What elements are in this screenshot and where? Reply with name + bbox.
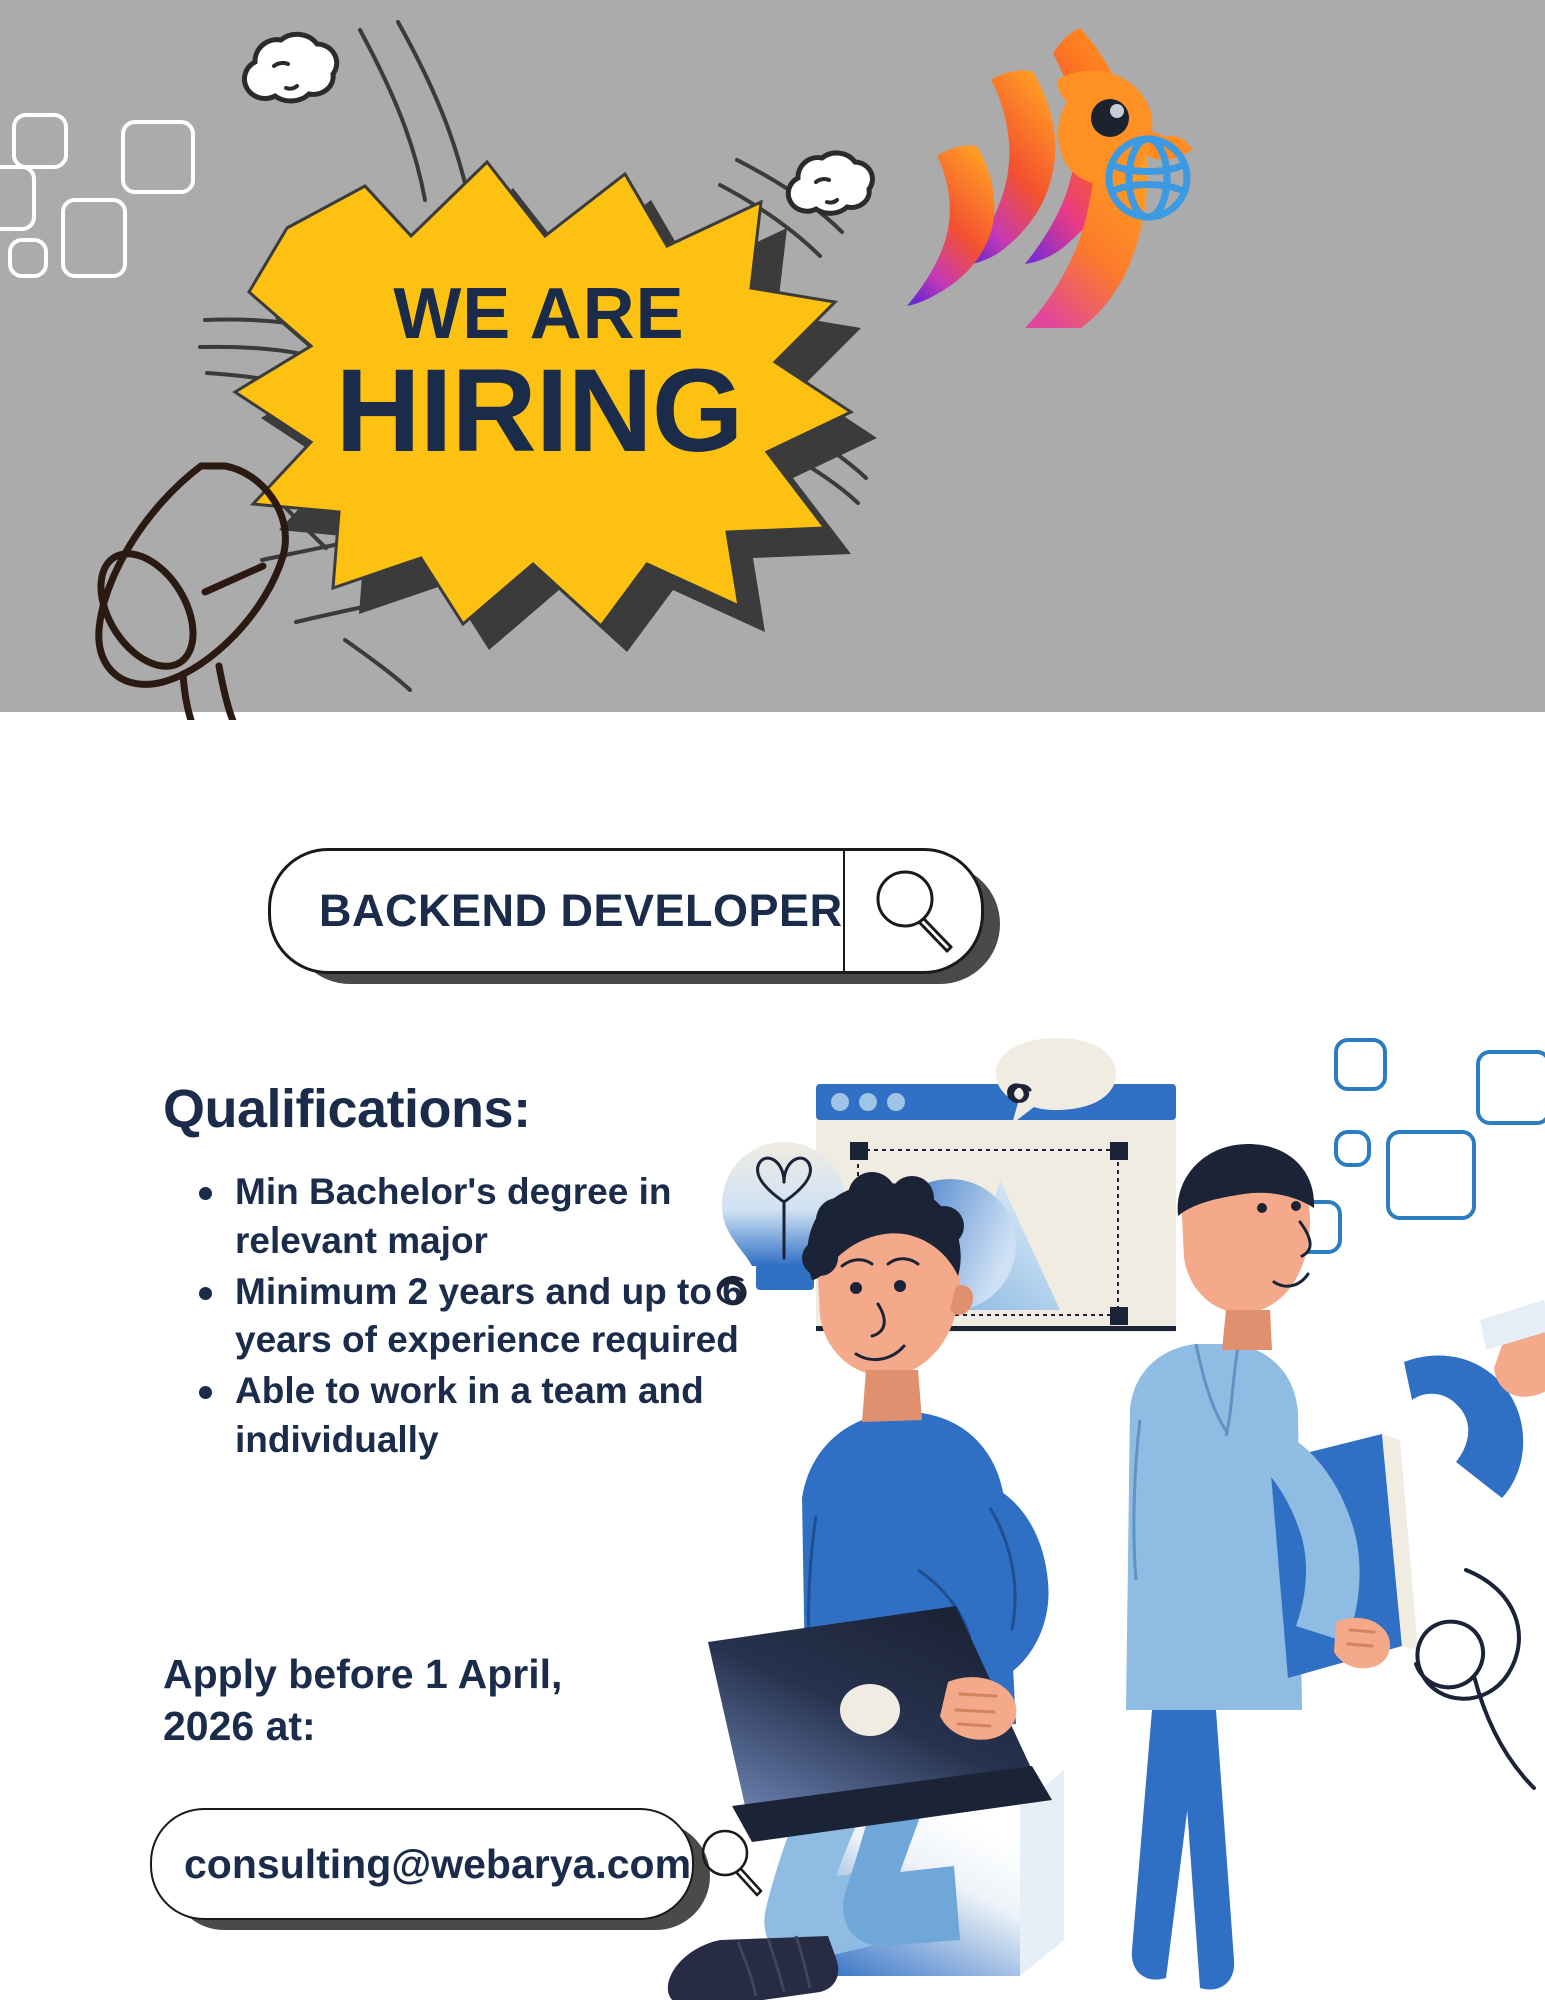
decorative-square-white	[121, 120, 195, 194]
decorative-swirl	[1416, 1570, 1534, 1788]
email-bar-body[interactable]: consulting@webarya.com	[150, 1808, 694, 1920]
team-illustration	[660, 1010, 1545, 2000]
cloud-icon	[222, 20, 352, 135]
decorative-square-white	[0, 165, 36, 231]
decorative-square-white	[61, 198, 127, 278]
job-title-search-bar[interactable]: BACKEND DEVELOPER	[268, 848, 978, 968]
email-value: consulting@webarya.com	[184, 1841, 691, 1888]
decorative-square-white	[8, 238, 48, 278]
search-button[interactable]	[845, 851, 981, 971]
hiring-poster: WE ARE HIRING	[0, 0, 1545, 2000]
email-search-bar[interactable]: consulting@webarya.com	[150, 1808, 690, 1916]
job-title-input[interactable]: BACKEND DEVELOPER	[271, 851, 843, 971]
pointing-arm	[1404, 1300, 1545, 1498]
apply-deadline-text: Apply before 1 April, 2026 at:	[163, 1648, 663, 1753]
search-icon	[863, 861, 963, 961]
decorative-square-white	[12, 113, 68, 169]
email-input[interactable]: consulting@webarya.com	[152, 1810, 691, 1918]
qualifications-heading: Qualifications:	[163, 1078, 531, 1140]
search-bar-body[interactable]: BACKEND DEVELOPER	[268, 848, 984, 974]
job-title-value: BACKEND DEVELOPER	[319, 885, 843, 937]
megaphone-icon	[85, 460, 415, 720]
globe-icon	[1100, 130, 1196, 226]
